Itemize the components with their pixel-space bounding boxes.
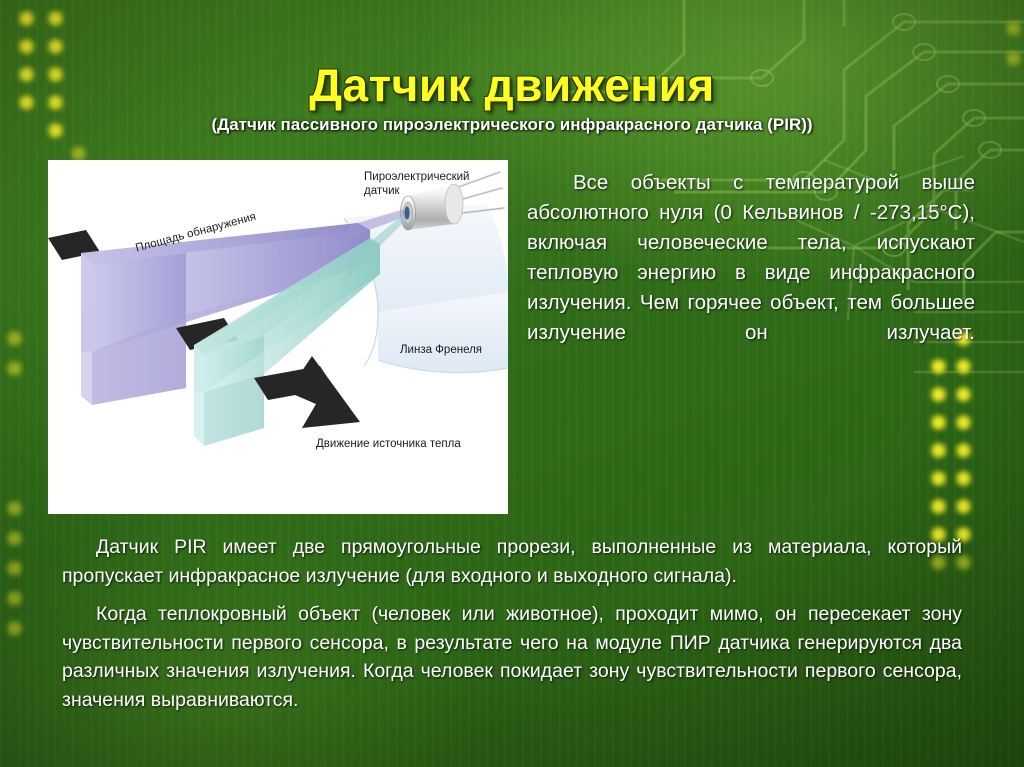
pcb-led-glow-icon	[47, 38, 64, 55]
motion-arrow-head	[288, 356, 360, 428]
pcb-led-glow-icon	[47, 10, 64, 27]
pcb-led-glow-icon	[6, 360, 23, 377]
slide-root: Датчик движения (Датчик пассивного пироэ…	[0, 0, 1024, 767]
pcb-led-glow-icon	[6, 560, 23, 577]
pcb-led-glow-icon	[955, 414, 972, 431]
right-column-paragraph: Все объекты с температурой выше абсолютн…	[527, 171, 975, 344]
figure-label-heat-source-motion: Движение источника тепла	[316, 437, 461, 451]
pcb-led-glow-icon	[930, 442, 947, 459]
bottom-paragraph-2-text: Когда теплокровный объект (человек или ж…	[62, 603, 962, 711]
bottom-text-block: Датчик PIR имеет две прямоугольные проре…	[62, 533, 962, 714]
pcb-led-glow-icon	[18, 10, 35, 27]
detection-zone-two-wall-left	[194, 345, 204, 446]
pcb-led-glow-icon	[6, 530, 23, 547]
pcb-led-glow-icon	[6, 590, 23, 607]
right-text-column: Все объекты с температурой выше абсолютн…	[527, 168, 975, 348]
pcb-led-glow-icon	[930, 386, 947, 403]
pcb-led-glow-icon	[930, 470, 947, 487]
pcb-led-glow-icon	[6, 500, 23, 517]
pcb-led-glow-icon	[930, 358, 947, 375]
pcb-led-glow-icon	[955, 386, 972, 403]
pcb-led-glow-icon	[955, 442, 972, 459]
bottom-paragraph-2: Когда теплокровный объект (человек или ж…	[62, 600, 962, 714]
pcb-led-glow-icon	[1005, 20, 1022, 37]
pcb-led-glow-icon	[6, 620, 23, 637]
detection-zone-one-wall-left	[81, 253, 92, 405]
pcb-led-glow-icon	[955, 358, 972, 375]
bottom-paragraph-1: Датчик PIR имеет две прямоугольные проре…	[62, 533, 962, 590]
pcb-led-glow-icon	[930, 414, 947, 431]
slide-title: Датчик движения	[0, 58, 1024, 112]
pcb-led-glow-icon	[930, 498, 947, 515]
pcb-led-glow-icon	[6, 330, 23, 347]
figure-label-pyroelectric-sensor: Пироэлектрический датчик	[364, 170, 492, 199]
slide-subtitle: (Датчик пассивного пироэлектрического ин…	[0, 115, 1024, 135]
pcb-led-glow-icon	[18, 38, 35, 55]
pcb-led-glow-icon	[955, 470, 972, 487]
figure-label-fresnel-lens: Линза Френеля	[400, 343, 482, 357]
pir-sensor-diagram: Площадь обнаружения Пироэлектрический да…	[48, 160, 508, 514]
pir-diagram-svg	[48, 160, 508, 514]
pcb-led-glow-icon	[955, 498, 972, 515]
bottom-paragraph-1-text: Датчик PIR имеет две прямоугольные проре…	[62, 536, 962, 587]
